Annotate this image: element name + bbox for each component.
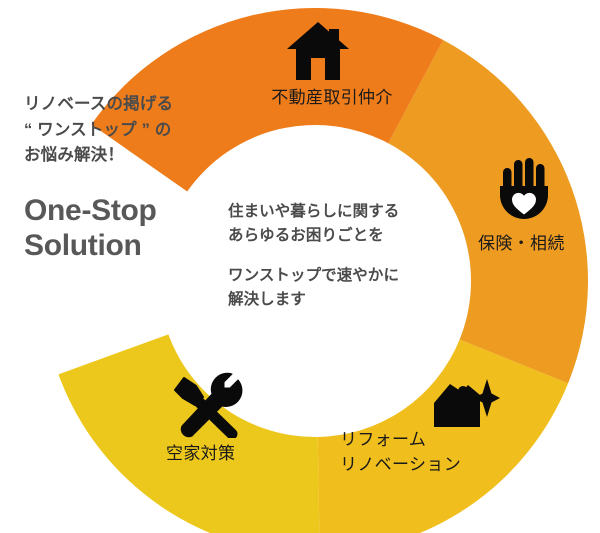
segment-label-reform[interactable]: リフォーム リノベーション: [340, 428, 500, 477]
lead-line-3: お悩み解決！: [24, 143, 224, 169]
house-icon: [287, 22, 349, 80]
segment-label-reform-line-2: リノベーション: [340, 453, 500, 478]
house-sparkle-icon: [432, 375, 500, 435]
lead-line-1: リノベースの掲げる: [24, 92, 224, 118]
center-paragraph-1-line-1: 住まいや暮らしに関する: [228, 200, 458, 224]
center-paragraph-1-line-2: あらゆるお困りごとを: [228, 224, 458, 248]
center-copy-block: 住まいや暮らしに関する あらゆるお困りごとを ワンストップで速やかに 解決します: [228, 200, 458, 312]
hand-heart-icon: [497, 156, 553, 224]
center-paragraph-2-line-2: 解決します: [228, 288, 458, 312]
segment-label-estate[interactable]: 不動産取引仲介: [248, 86, 416, 111]
segment-label-vacant-line-1: 空家対策: [166, 442, 270, 467]
segment-label-insurance-line-1: 保険・相続: [478, 232, 590, 257]
hammer-wrench-icon: [170, 370, 246, 438]
lead-line-2: “ ワンストップ ” の: [24, 118, 224, 144]
headline-line-1: One-Stop: [24, 193, 224, 228]
segment-label-reform-line-1: リフォーム: [340, 428, 500, 453]
headline-line-2: Solution: [24, 228, 224, 263]
segment-label-estate-line-1: 不動産取引仲介: [248, 86, 416, 111]
page-title: One-Stop Solution: [24, 193, 224, 264]
infographic-canvas: リノベースの掲げる “ ワンストップ ” の お悩み解決！ One-Stop S…: [0, 0, 600, 533]
segment-label-vacant[interactable]: 空家対策: [166, 442, 270, 467]
left-copy-block: リノベースの掲げる “ ワンストップ ” の お悩み解決！ One-Stop S…: [24, 92, 224, 263]
center-paragraph-2-line-1: ワンストップで速やかに: [228, 264, 458, 288]
center-paragraph-2: ワンストップで速やかに 解決します: [228, 264, 458, 312]
center-paragraph-1: 住まいや暮らしに関する あらゆるお困りごとを: [228, 200, 458, 248]
segment-label-insurance[interactable]: 保険・相続: [478, 232, 590, 257]
